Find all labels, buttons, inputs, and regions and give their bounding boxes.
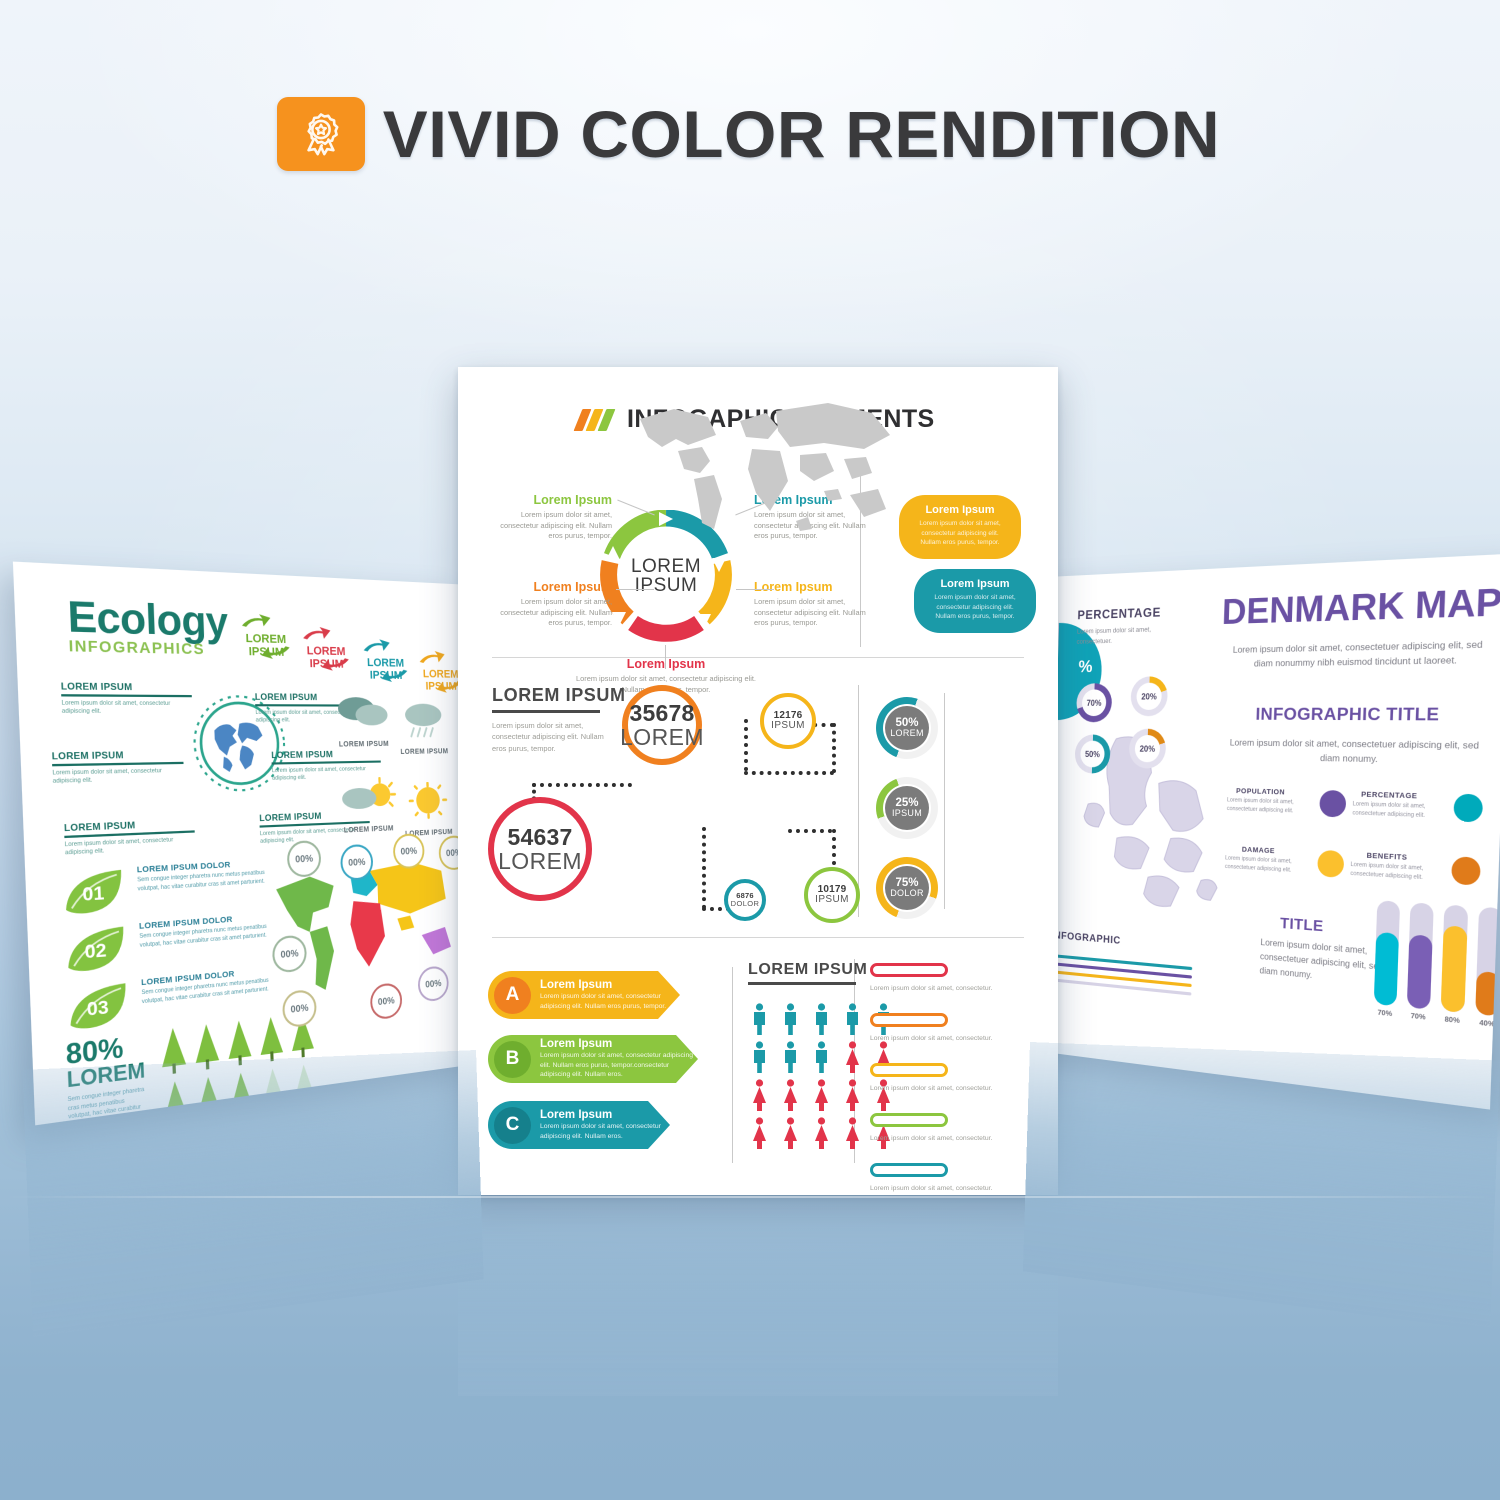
eco-callout-2: LOREM IPSUM Lorem ipsum dolor sit amet, … [64, 817, 196, 859]
bar-label-0: 70% [1377, 1009, 1392, 1018]
legend-item-population: POPULATION Lorem ipsum dolor sit amet, c… [1211, 787, 1346, 818]
person-male-icon [841, 1003, 864, 1036]
map-marker-label-3: DOLOR [731, 900, 760, 908]
step-letter-a: A [494, 977, 531, 1014]
leader-line-4 [665, 645, 666, 669]
list-item-3[interactable]: Lorem ipsum dolor sit amet, consectetur. [870, 1113, 1016, 1144]
list-text-1: Lorem ipsum dolor sit amet, consectetur. [870, 1034, 1016, 1044]
callout-title-1: Lorem Ipsum [926, 578, 1024, 590]
denmark-title: DENMARK MAP [1221, 582, 1500, 629]
wheel-label-title-2: Lorem Ipsum [500, 580, 612, 594]
ecology-infographic-sheet[interactable]: Ecology INFOGRAPHICS LOREM IPSUM [13, 562, 476, 1126]
wheel-label-0: Lorem Ipsum Lorem ipsum dolor sit amet, … [500, 493, 612, 542]
step-letter-c: C [494, 1107, 531, 1144]
person-male-icon [748, 1041, 771, 1074]
step-body-a: Lorem ipsum dolor sit amet, consectetur … [540, 992, 680, 1011]
eco-callout-title-4: LOREM IPSUM [271, 748, 381, 760]
percent-ring-value-2: 50% [1080, 741, 1105, 768]
partly-sunny-icon [338, 777, 398, 818]
map-marker-label-0: LOREM [620, 725, 704, 749]
infographic-body: Lorem ipsum dolor sit amet, consectetuer… [1225, 736, 1484, 769]
person-female-icon [810, 1117, 833, 1150]
weather-item-2: LOREM IPSUM [338, 777, 399, 835]
weather-item-0: LOREM IPSUM [333, 692, 394, 749]
gauge-hub-1: 25% IPSUM [885, 786, 929, 830]
tree-icon [158, 1024, 188, 1076]
map-marker-3[interactable]: 6876 DOLOR [724, 879, 766, 921]
dash-connector-2 [832, 723, 836, 773]
callout-box-0[interactable]: Lorem Ipsum Lorem ipsum dolor sit amet, … [899, 495, 1021, 559]
divider-2 [492, 937, 1024, 938]
map-marker-0[interactable]: 35678 LOREM [622, 685, 702, 765]
list-text-4: Lorem ipsum dolor sit amet, consectetur. [870, 1184, 1016, 1194]
percent-ring-value-0: 70% [1082, 689, 1107, 716]
wheel-center-line2: IPSUM [635, 576, 698, 595]
list-item-1[interactable]: Lorem ipsum dolor sit amet, consectetur. [870, 1013, 1016, 1044]
page-title: VIVID COLOR RENDITION [383, 101, 1220, 167]
cloudy-icon [333, 692, 393, 732]
percentage-body: Lorem ipsum dolor sit amet, consectetuer… [1077, 625, 1164, 647]
bar-column-2: 80% [1440, 905, 1468, 1026]
map-marker-label-2: LOREM [498, 849, 582, 873]
legend-item-percentage: PERCENTAGE Lorem ipsum dolor sit amet, c… [1336, 790, 1484, 822]
recycle-badge-1: LOREM IPSUM [291, 625, 361, 671]
tree-icon [225, 1017, 254, 1068]
legend-body-1: Lorem ipsum dolor sit amet, consectetuer… [1336, 800, 1444, 821]
gauge-label-0: LOREM [890, 729, 924, 739]
legend-swatch-3 [1451, 856, 1481, 885]
weather-label-2: LOREM IPSUM [339, 825, 398, 835]
list-text-3: Lorem ipsum dolor sit amet, consectetur. [870, 1134, 1016, 1144]
floor-line [0, 1196, 1500, 1198]
recycle-badge-line2-2: IPSUM [370, 669, 403, 682]
wheel-label-2: Lorem Ipsum Lorem ipsum dolor sit amet, … [500, 580, 612, 629]
list-text-0: Lorem ipsum dolor sit amet, consectetur. [870, 984, 1016, 994]
dash-connector-4 [532, 783, 632, 787]
gauge-label-2: DOLOR [890, 889, 924, 899]
bar-label-3: 40% [1479, 1019, 1495, 1029]
person-male-icon [810, 1041, 833, 1074]
callout-box-1[interactable]: Lorem Ipsum Lorem ipsum dolor sit amet, … [914, 569, 1036, 633]
leader-line-2 [616, 589, 654, 590]
wheel-center-line1: LOREM [631, 557, 701, 576]
leaf-number-0: 01 [82, 881, 105, 905]
map-marker-label-1: IPSUM [771, 721, 805, 732]
dash-connector-1 [744, 771, 834, 775]
wheel-label-title-4: Lorem Ipsum [571, 657, 761, 671]
person-female-icon [841, 1041, 864, 1074]
list-text-2: Lorem ipsum dolor sit amet, consectetur. [870, 1084, 1016, 1094]
leader-line-3 [736, 589, 774, 590]
person-female-icon [841, 1079, 864, 1112]
bar-column-1: 70% [1406, 902, 1433, 1022]
person-female-icon [810, 1079, 833, 1112]
wheel-label-body-3: Lorem ipsum dolor sit amet, consectetur … [754, 597, 866, 629]
divider-v-2 [858, 685, 859, 917]
percent-ring-value-3: 20% [1134, 735, 1160, 763]
leaf-icon: 03 [65, 978, 133, 1033]
eco-callout-body-0: Lorem ipsum dolor sit amet, consectetur … [61, 699, 192, 717]
bar-label-1: 70% [1411, 1012, 1426, 1022]
map-marker-4[interactable]: 10179 IPSUM [804, 867, 860, 923]
list-pill-2 [870, 1063, 948, 1077]
award-ribbon-icon [277, 97, 365, 171]
leaf-icon: 02 [63, 922, 132, 975]
person-female-icon [779, 1117, 802, 1150]
step-body-b: Lorem ipsum dolor sit amet, consectetur … [540, 1051, 698, 1080]
world-map-grey [628, 395, 910, 547]
step-banner-c[interactable]: C Lorem Ipsum Lorem ipsum dolor sit amet… [488, 1101, 670, 1149]
list-item-0[interactable]: Lorem ipsum dolor sit amet, consectetur. [870, 963, 1016, 994]
legend-swatch-1 [1453, 794, 1483, 823]
map-marker-value-0: 35678 [630, 701, 695, 725]
sun-icon [399, 781, 456, 821]
person-female-icon [748, 1117, 771, 1150]
step-title-a: Lorem Ipsum [540, 979, 680, 991]
list-pill-4 [870, 1163, 948, 1177]
denmark-map-sheet[interactable]: % DENMARK MAP Lorem [1023, 554, 1500, 1110]
eco-callout-body-1: Lorem ipsum dolor sit amet, consectetur … [52, 767, 184, 788]
people-section-head: LOREM IPSUM [748, 961, 868, 985]
step-letter-b: B [494, 1041, 531, 1078]
person-female-icon [748, 1079, 771, 1112]
poster-canvas: VIVID COLOR RENDITION Ecology INFOGRAPHI… [0, 0, 1500, 1500]
percentage-heading: PERCENTAGE [1077, 605, 1164, 623]
step-banner-a[interactable]: A Lorem Ipsum Lorem ipsum dolor sit amet… [488, 971, 680, 1019]
people-heading: LOREM IPSUM [748, 961, 868, 979]
bar-label-2: 80% [1444, 1016, 1459, 1026]
wheel-label-3: Lorem Ipsum Lorem ipsum dolor sit amet, … [754, 580, 866, 629]
weather-item-1: LOREM IPSUM [394, 701, 452, 757]
person-male-icon [779, 1041, 802, 1074]
map-marker-value-2: 54637 [508, 825, 573, 849]
map-marker-label-4: IPSUM [815, 895, 849, 906]
legend-body-3: Lorem ipsum dolor sit amet, consectetuer… [1333, 861, 1441, 884]
percent-ring-0: 70% [1076, 683, 1112, 722]
weather-label-1: LOREM IPSUM [396, 748, 452, 756]
dash-connector-6 [702, 827, 706, 909]
gauge-hub-2: 75% DOLOR [885, 866, 929, 910]
divider-v-3 [944, 693, 945, 909]
eco-callout-1: LOREM IPSUM Lorem ipsum dolor sit amet, … [52, 748, 185, 787]
list-pill-1 [870, 1013, 948, 1027]
recycle-badge-line2-3: IPSUM [425, 680, 457, 692]
person-female-icon [841, 1117, 864, 1150]
chart-title: TITLE [1280, 914, 1324, 935]
recycle-badge-line2-1: IPSUM [309, 657, 343, 670]
wheel-label-title-3: Lorem Ipsum [754, 580, 866, 594]
map-section-heading: LOREM IPSUM [492, 685, 626, 706]
tree-icon [192, 1021, 221, 1073]
donut-label: % [1078, 657, 1093, 678]
weather-item-3: LOREM IPSUM [399, 781, 457, 838]
map-marker-2[interactable]: 54637 LOREM [488, 797, 592, 901]
infographic-elements-sheet[interactable]: INFOGAPHIC ELEMENTS [458, 367, 1058, 1195]
step-title-b: Lorem Ipsum [540, 1038, 698, 1050]
leaf-number-2: 03 [86, 995, 109, 1020]
map-section-head: LOREM IPSUM Lorem ipsum dolor sit amet, … [492, 685, 626, 754]
person-male-icon [810, 1003, 833, 1036]
gauge-1: 25% IPSUM [876, 777, 938, 839]
person-male-icon [748, 1003, 771, 1036]
callout-body-0: Lorem ipsum dolor sit amet, consectetur … [911, 519, 1009, 548]
legend-title-0: POPULATION [1212, 787, 1310, 797]
gauge-hub-0: 50% LOREM [885, 706, 929, 750]
list-item-4[interactable]: Lorem ipsum dolor sit amet, consectetur. [870, 1163, 1016, 1194]
weather-label-0: LOREM IPSUM [334, 741, 393, 749]
list-pill-0 [870, 963, 948, 977]
person-male-icon [779, 1003, 802, 1036]
percent-ring-value-1: 20% [1136, 683, 1162, 710]
percent-ring-1: 20% [1130, 676, 1168, 716]
chart-body: Lorem ipsum dolor sit amet, consectetuer… [1259, 936, 1389, 990]
gauge-label-1: IPSUM [892, 809, 922, 819]
recycle-badge-line1-3: LOREM [423, 668, 459, 681]
percentage-block: PERCENTAGE Lorem ipsum dolor sit amet, c… [1077, 605, 1165, 647]
denmark-subtitle: Lorem ipsum dolor sit amet, consectetuer… [1224, 637, 1492, 671]
eco-callout-title-1: LOREM IPSUM [52, 748, 184, 761]
rain-icon [394, 701, 451, 740]
eco-callout-body-2: Lorem ipsum dolor sit amet, consectetur … [65, 835, 196, 859]
step-title-c: Lorem Ipsum [540, 1109, 670, 1121]
callout-title-0: Lorem Ipsum [911, 504, 1009, 516]
eco-callout-0: LOREM IPSUM Lorem ipsum dolor sit amet, … [61, 680, 193, 717]
dash-connector-0 [744, 719, 748, 771]
dash-connector-8 [788, 829, 832, 833]
gauge-0: 50% LOREM [876, 697, 938, 759]
person-female-icon [779, 1079, 802, 1112]
eco-callout-title-0: LOREM IPSUM [61, 680, 192, 693]
map-marker-1[interactable]: 12176 IPSUM [760, 693, 816, 749]
bar-column-0: 70% [1373, 900, 1400, 1019]
bar-chart: 70% 70% 80% 40% [1373, 900, 1500, 1029]
ecology-title-main: Ecology [67, 597, 229, 643]
divider-v-5 [732, 967, 733, 1163]
ecology-title: Ecology INFOGRAPHICS [67, 597, 229, 658]
list-pill-3 [870, 1113, 948, 1127]
infographic-title: INFOGRAPHIC TITLE [1255, 705, 1439, 726]
wheel-label-body-0: Lorem ipsum dolor sit amet, consectetur … [500, 510, 612, 542]
leaf-icon: 01 [61, 865, 130, 917]
step-banner-b[interactable]: B Lorem Ipsum Lorem ipsum dolor sit amet… [488, 1035, 698, 1083]
gauge-2: 75% DOLOR [876, 857, 938, 919]
wheel-label-body-2: Lorem ipsum dolor sit amet, consectetur … [500, 597, 612, 629]
recycle-badge-line2-0: IPSUM [248, 645, 284, 659]
legend-title-1: PERCENTAGE [1336, 790, 1443, 801]
legend-item-benefits: BENEFITS Lorem ipsum dolor sit amet, con… [1333, 851, 1480, 886]
callout-body-1: Lorem ipsum dolor sit amet, consectetur … [926, 593, 1024, 622]
wheel-label-title-0: Lorem Ipsum [500, 493, 612, 507]
line-chart-strokes [1041, 953, 1193, 1001]
graphic-label: INFOGRAPHIC [1051, 930, 1121, 947]
step-body-c: Lorem ipsum dolor sit amet, consectetur … [540, 1122, 670, 1141]
map-section-body: Lorem ipsum dolor sit amet, consectetur … [492, 720, 610, 754]
header: VIVID COLOR RENDITION [277, 97, 1212, 171]
leaf-step-1: 02 LOREM IPSUM DOLOR Sem congue integer … [63, 912, 268, 975]
list-item-2[interactable]: Lorem ipsum dolor sit amet, consectetur. [870, 1063, 1016, 1094]
leaf-number-1: 02 [84, 938, 107, 962]
slash-mark-icon [578, 409, 611, 431]
leaf-step-0: 01 LOREM IPSUM DOLOR Sem congue integer … [61, 858, 267, 917]
